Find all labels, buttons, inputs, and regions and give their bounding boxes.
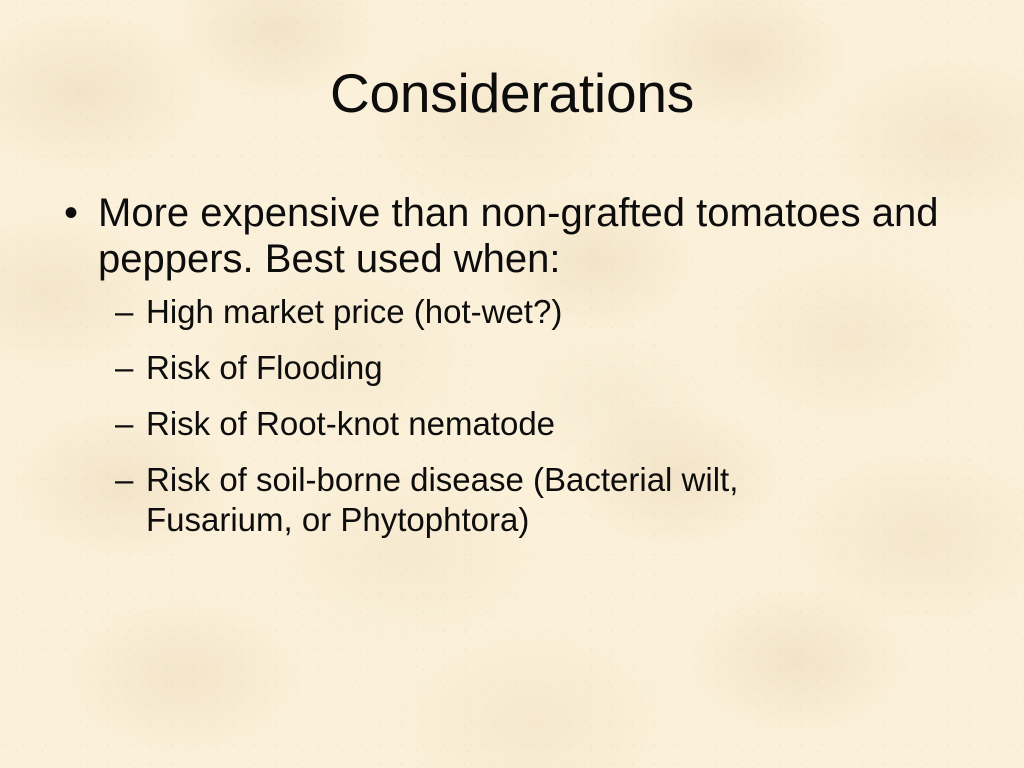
en-dash-bullet-icon: – bbox=[115, 292, 133, 332]
list-item: – Risk of soil-borne disease (Bacterial … bbox=[56, 460, 968, 540]
disc-bullet-icon: • bbox=[64, 190, 78, 236]
presentation-slide: Considerations • More expensive than non… bbox=[0, 0, 1024, 768]
list-item-label: Risk of Flooding bbox=[146, 348, 846, 388]
list-item-label: More expensive than non-grafted tomatoes… bbox=[98, 190, 956, 282]
slide-body: • More expensive than non-grafted tomato… bbox=[56, 190, 968, 540]
list-item-label: Risk of soil-borne disease (Bacterial wi… bbox=[146, 460, 846, 540]
list-item: – Risk of Flooding bbox=[56, 348, 968, 388]
sub-bullet-list: – High market price (hot-wet?) – Risk of… bbox=[56, 292, 968, 540]
list-item: – Risk of Root-knot nematode bbox=[56, 404, 968, 444]
list-item: • More expensive than non-grafted tomato… bbox=[56, 190, 968, 282]
page-title: Considerations bbox=[0, 60, 1024, 126]
en-dash-bullet-icon: – bbox=[115, 348, 133, 388]
slide-content: Considerations • More expensive than non… bbox=[0, 0, 1024, 768]
list-item: – High market price (hot-wet?) bbox=[56, 292, 968, 332]
en-dash-bullet-icon: – bbox=[115, 460, 133, 500]
en-dash-bullet-icon: – bbox=[115, 404, 133, 444]
list-item-label: High market price (hot-wet?) bbox=[146, 292, 846, 332]
list-item-label: Risk of Root-knot nematode bbox=[146, 404, 846, 444]
